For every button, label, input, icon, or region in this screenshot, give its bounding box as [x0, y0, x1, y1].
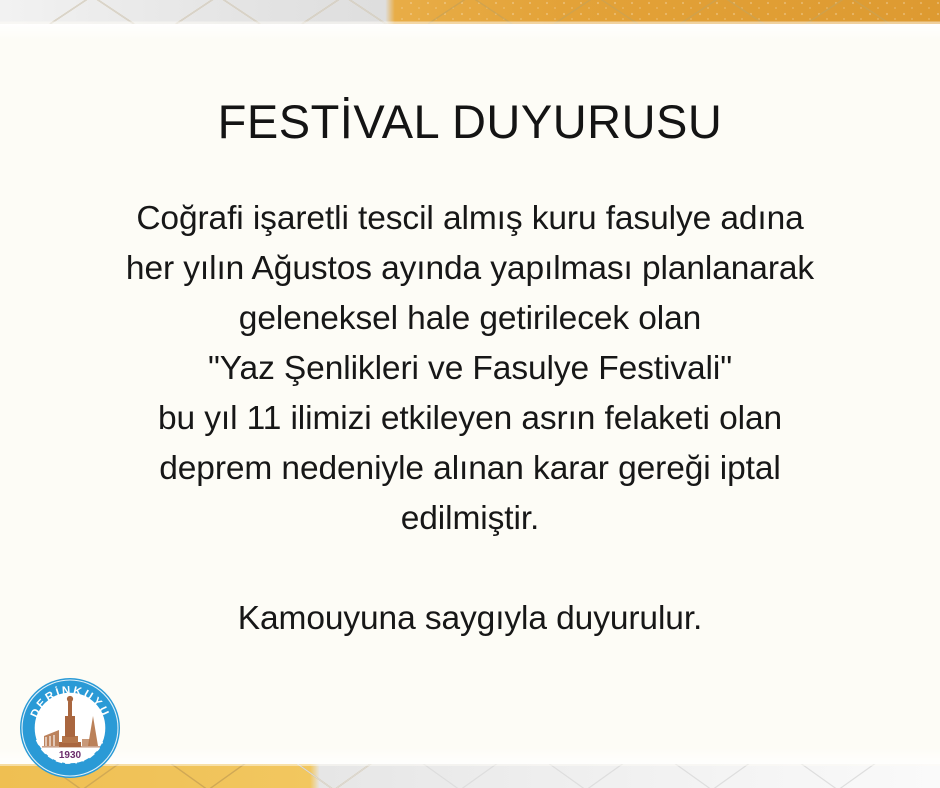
bottom-decorative-band — [0, 764, 940, 788]
poster-content: FESTİVAL DUYURUSU Coğrafi işaretli tesci… — [0, 0, 940, 788]
body-line-7: edilmiştir. — [30, 494, 910, 544]
body-line-2: her yılın Ağustos ayında yapılması planl… — [30, 244, 910, 294]
body-line-1: Coğrafi işaretli tescil almış kuru fasul… — [30, 194, 910, 244]
body-line-closing: Kamouyuna saygıyla duyurulur. — [30, 594, 910, 644]
body-line-6: deprem nedeniyle alınan karar gereği ipt… — [30, 444, 910, 494]
body-line-4: "Yaz Şenlikleri ve Fasulye Festivali" — [30, 344, 910, 394]
body-line-spacer — [30, 544, 910, 594]
page-title: FESTİVAL DUYURUSU — [218, 96, 723, 148]
seal-year: 1930 — [59, 750, 82, 761]
announcement-poster: FESTİVAL DUYURUSU Coğrafi işaretli tesci… — [0, 0, 940, 788]
body-line-3: geleneksel hale getirilecek olan — [30, 294, 910, 344]
derinkuyu-belediyesi-logo: DERİNKUYU BELEDİYESİ — [18, 676, 122, 780]
announcement-body: Coğrafi işaretli tescil almış kuru fasul… — [30, 194, 910, 644]
body-line-5: bu yıl 11 ilimizi etkileyen asrın felake… — [30, 394, 910, 444]
